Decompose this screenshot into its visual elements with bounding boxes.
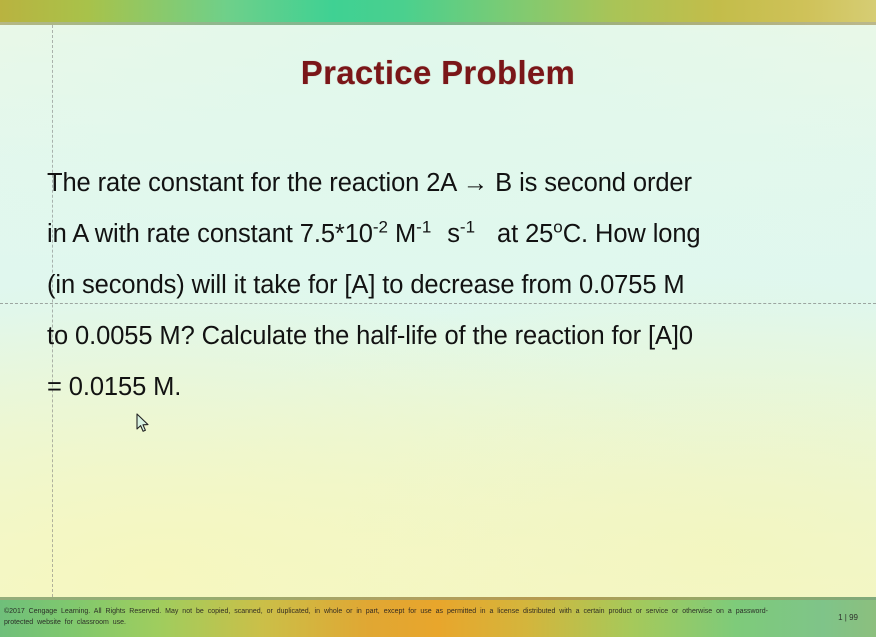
- degree-symbol-icon: o: [553, 218, 562, 237]
- body-line-2-part-d: at 25: [490, 220, 553, 248]
- body-line-2-part-e: C. How long: [563, 220, 701, 248]
- presentation-slide: Practice Problem The rate constant for t…: [0, 0, 876, 637]
- body-line-1-part-b: B is second order: [488, 169, 692, 197]
- body-line-3: (in seconds) will it take for [A] to dec…: [47, 260, 847, 311]
- page-number: 1 | 99: [838, 613, 858, 622]
- reaction-arrow-icon: →: [463, 169, 488, 197]
- copyright-notice: ©2017 Cengage Learning. All Rights Reser…: [4, 606, 794, 628]
- slide-top-decorative-band: [0, 0, 876, 22]
- exponent-molarity: -1: [416, 218, 431, 237]
- body-line-5: = 0.0155 M.: [47, 362, 847, 413]
- exponent-seconds: -1: [460, 218, 475, 237]
- body-line-4: to 0.0055 M? Calculate the half-life of …: [47, 311, 847, 362]
- body-line-2-part-a: in A with rate constant 7.5*10: [47, 220, 373, 248]
- mouse-pointer-icon: [136, 413, 150, 433]
- body-line-1: The rate constant for the reaction 2A → …: [47, 158, 847, 209]
- body-line-2-part-c: s: [440, 220, 460, 248]
- slide-body-text: The rate constant for the reaction 2A → …: [47, 158, 847, 413]
- slide-title: Practice Problem: [0, 54, 876, 92]
- body-line-2-part-b: M: [388, 220, 416, 248]
- exponent-rate-constant: -2: [373, 218, 388, 237]
- body-line-1-part-a: The rate constant for the reaction 2A: [47, 169, 463, 197]
- body-line-2: in A with rate constant 7.5*10-2 M-1 s-1…: [47, 209, 847, 260]
